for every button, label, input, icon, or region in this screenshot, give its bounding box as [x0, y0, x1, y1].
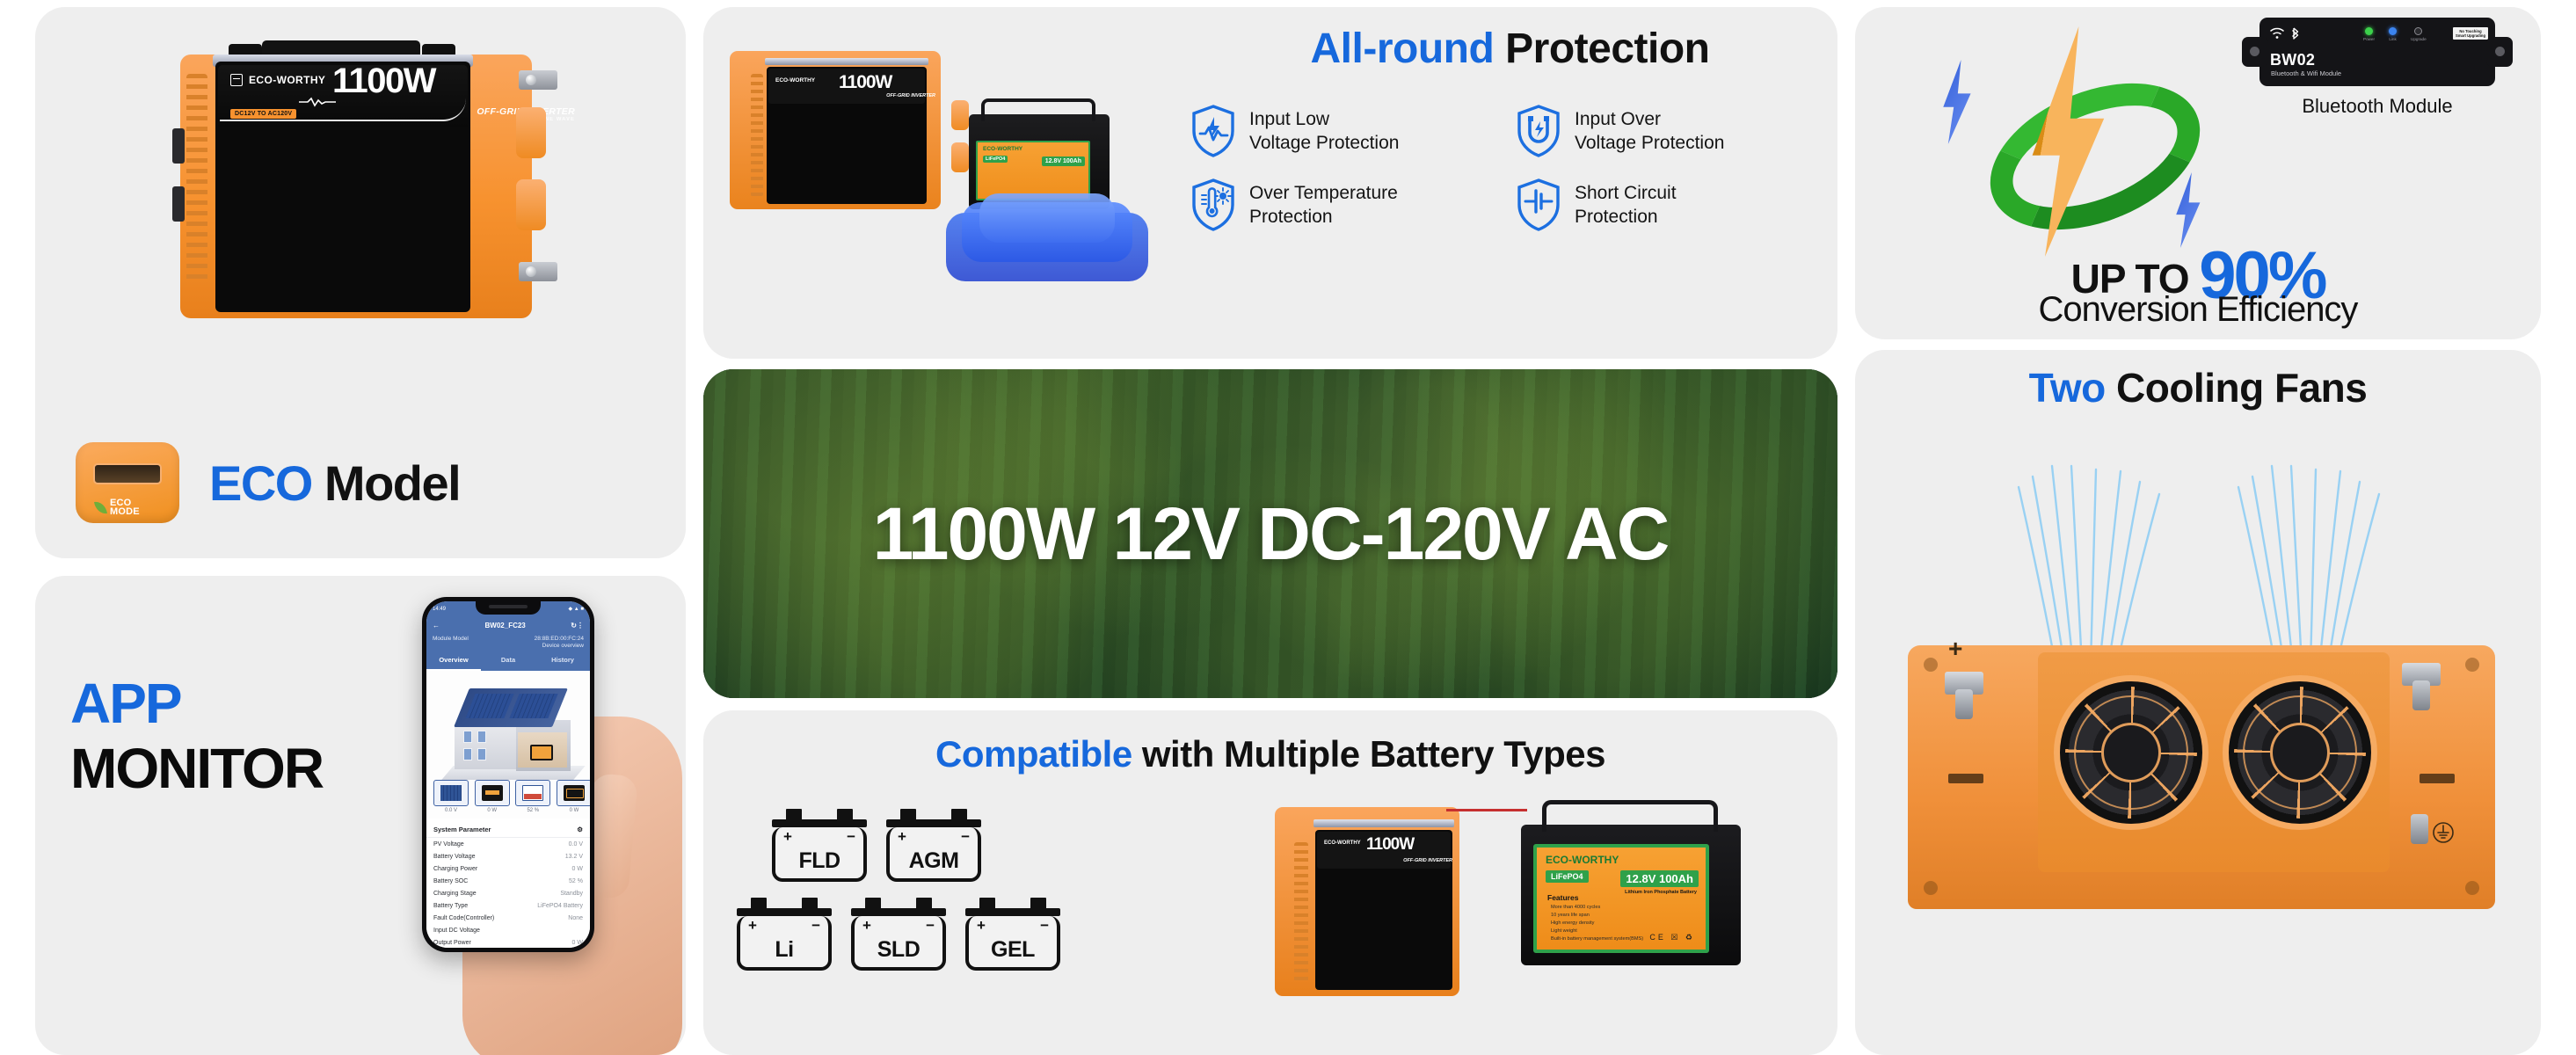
- module-model-label: Module Model: [433, 636, 469, 642]
- app-title-line1: APP: [70, 671, 323, 736]
- blue-bolt-small-icon-1: [1936, 60, 1976, 144]
- battery-minus-sign: −: [926, 920, 935, 932]
- fan-rings-left: [2074, 695, 2188, 810]
- battery-top-bar: [772, 819, 867, 827]
- led-upgrade: Upgrade: [2411, 27, 2427, 41]
- protection-item-short-circuit: Short CircuitProtection: [1515, 178, 1831, 232]
- battery-type-name: GEL: [969, 937, 1057, 963]
- eco-model-title: ECO Model: [209, 455, 460, 512]
- battery-plus-sign: +: [748, 920, 757, 932]
- hand-holding-phone: 14:49 ◆ ▲ ■ ← BW02_FC23 ↻ ⋮ Module Model…: [378, 585, 686, 1055]
- shield-temperature-icon: [1190, 178, 1237, 232]
- param-row-pv-voltage: PV Voltage 0.0 V: [426, 838, 590, 850]
- protection-title-highlight: All-round: [1311, 25, 1495, 72]
- panel-eco-model: ECO-WORTHY 1100W DC12V TO AC120V OFF-GRI…: [35, 7, 686, 558]
- status-time: 14:49: [433, 607, 446, 612]
- battery-body: + − GEL: [965, 916, 1060, 971]
- battery-type-row-1: + − FLD + − AGM: [737, 809, 1282, 882]
- status-signal-icons: ◆ ▲ ■: [568, 606, 584, 612]
- photo2-inverter-watts: 1100W: [1366, 835, 1414, 855]
- led-power: Power: [2363, 27, 2375, 41]
- photo-inverter-strip: [765, 58, 928, 65]
- battery-body: + − Li: [737, 916, 832, 971]
- protection-title: All-round Protection: [1182, 25, 1837, 73]
- battery-title-highlight: Compatible: [935, 733, 1132, 775]
- house-inverter-icon: [530, 745, 553, 760]
- param-value: Standby: [560, 891, 583, 897]
- battery-type-name: AGM: [890, 848, 978, 874]
- inverter-product-image: ECO-WORTHY 1100W DC12V TO AC120V OFF-GRI…: [132, 23, 589, 348]
- inverter-vents: [186, 74, 207, 283]
- protection-item-over-voltage: Input OverVoltage Protection: [1515, 104, 1831, 158]
- battery-type-gel: + − GEL: [965, 898, 1060, 971]
- param-label: Fault Code(Controller): [433, 915, 494, 921]
- device-status-row: 0.0 V 0 W 52 %: [433, 780, 590, 813]
- phone-screen: 14:49 ◆ ▲ ■ ← BW02_FC23 ↻ ⋮ Module Model…: [426, 601, 590, 948]
- positive-terminal: +: [1936, 665, 1992, 731]
- hero-spec-text: 1100W 12V DC-120V AC: [703, 369, 1837, 698]
- phone-speaker: [489, 605, 528, 608]
- param-label: Charging Stage: [433, 891, 477, 897]
- param-row-output-power: Output Power 0 W: [426, 936, 590, 948]
- cooling-fans-photo: +: [1897, 464, 2504, 939]
- battery-body: + − AGM: [886, 827, 981, 882]
- vent-slot-left: [1948, 774, 1983, 783]
- led-dot-blue: [2389, 27, 2397, 35]
- photo-battery-handle: [981, 98, 1095, 121]
- panel-battery-compatibility: Compatible with Multiple Battery Types +…: [703, 710, 1837, 1055]
- panel-cooling-fans: Two Cooling Fans: [1855, 350, 2541, 1055]
- inverter-terminal-bottom: [519, 262, 557, 281]
- param-label: Battery SOC: [433, 878, 468, 884]
- battery-type-sld: + − SLD: [851, 898, 946, 971]
- terminal-bolt: [1955, 689, 1973, 719]
- window-3: [477, 731, 486, 743]
- mount-hole-left: [2250, 47, 2259, 56]
- airflow-left-icon: [1968, 464, 2196, 666]
- param-row-charging-stage: Charging Stage Standby: [426, 887, 590, 899]
- wifi-icon: [2270, 27, 2284, 40]
- phone-notch: [476, 601, 541, 615]
- app-title-line2: MONITOR: [70, 736, 323, 801]
- photo-inverter-watts: 1100W: [839, 72, 891, 93]
- eco-model-title-rest: Model: [312, 455, 460, 511]
- param-value: LiFePO4 Battery: [537, 903, 583, 909]
- vent-slot-right: [2420, 774, 2455, 783]
- protection-item-label: Over TemperatureProtection: [1249, 181, 1398, 229]
- window-2: [463, 748, 472, 760]
- tab-overview[interactable]: Overview: [426, 651, 481, 671]
- battery-value: 52 %: [515, 808, 550, 813]
- battery-top-bar: [886, 819, 981, 827]
- param-value: 0 W: [572, 866, 583, 872]
- device-cell-solar[interactable]: 0.0 V: [433, 780, 469, 813]
- negative-terminal: [2393, 656, 2449, 723]
- module-model-name: BW02: [2270, 51, 2315, 69]
- module-model-value: 28:8B:ED:00:FC:24: [535, 636, 584, 642]
- bluetooth-module-caption: Bluetooth Module: [2259, 95, 2495, 118]
- cooling-fan-right: [2223, 675, 2377, 830]
- inverter-tab-1: [172, 128, 185, 164]
- param-label: Input DC Voltage: [433, 928, 480, 934]
- photo2-battery-brand: ECO-WORTHY: [1546, 854, 1619, 866]
- protection-title-rest: Protection: [1494, 25, 1709, 72]
- photo-battery-brand: ECO-WORTHY: [983, 146, 1022, 152]
- photo2-battery-label: ECO-WORTHY LiFePO4 12.8V 100Ah Lithium I…: [1533, 844, 1709, 953]
- battery-type-fld: + − FLD: [772, 809, 867, 882]
- battery-minus-sign: −: [961, 831, 970, 843]
- house-wall-left: [455, 724, 516, 769]
- system-diagram: 0.0 V 0 W 52 %: [426, 671, 590, 819]
- battery-type-li: + − Li: [737, 898, 832, 971]
- battery-minus-sign: −: [1040, 920, 1049, 932]
- param-label: Battery Type: [433, 903, 468, 909]
- battery-plus-sign: +: [862, 920, 871, 932]
- battery-type-row-2: + − Li + − SLD: [737, 898, 1282, 971]
- battery-type-name: Li: [740, 937, 828, 963]
- protection-content: All-round Protection Input LowVoltage Pr…: [1182, 7, 1837, 359]
- led-dot-green: [2365, 27, 2373, 35]
- battery-body: + − FLD: [772, 827, 867, 882]
- photo2-battery-chem: LiFePO4: [1546, 870, 1589, 883]
- panel-conversion-efficiency: Power Link Upgrade No Touching Smart Upg…: [1855, 7, 2541, 339]
- photo2-features-title: Features: [1547, 893, 1578, 902]
- system-parameter-title: System Parameter: [433, 826, 491, 833]
- photo2-inverter: ECO-WORTHY 1100W OFF-GRID INVERTER: [1275, 807, 1459, 996]
- module-sticker: No Touching Smart Upgrading: [2453, 27, 2488, 40]
- param-value: 13.2 V: [565, 854, 583, 860]
- shield-low-voltage-icon: [1190, 104, 1237, 158]
- back-arrow-icon[interactable]: ←: [433, 622, 440, 629]
- led-label: Power: [2363, 37, 2375, 41]
- device-overview-link[interactable]: Device overview: [426, 643, 590, 651]
- module-model-subtitle: Bluetooth & Wifi Module: [2271, 69, 2341, 77]
- battery-top-bar: [965, 908, 1060, 916]
- battery-icon: [515, 780, 550, 806]
- param-row-input-dc-voltage: Input DC Voltage: [426, 924, 590, 936]
- gear-icon[interactable]: ⚙: [577, 826, 583, 833]
- inverter-outlet-2: [516, 179, 546, 230]
- protection-item-low-voltage: Input LowVoltage Protection: [1190, 104, 1506, 158]
- bw02-module-device: Power Link Upgrade No Touching Smart Upg…: [2259, 18, 2495, 86]
- param-label: Charging Power: [433, 866, 477, 872]
- solar-panel-icon: [433, 780, 469, 806]
- protection-item-label: Input OverVoltage Protection: [1575, 107, 1724, 155]
- battery-minus-sign: −: [847, 831, 855, 843]
- system-parameter-header: System Parameter ⚙: [426, 822, 590, 838]
- param-row-fault-code: Fault Code(Controller) None: [426, 912, 590, 924]
- photo2-cable: [1446, 809, 1527, 811]
- photo-inverter-brand: ECO-WORTHY: [775, 77, 815, 84]
- eco-badge-slot: [93, 463, 162, 484]
- protection-feature-grid: Input LowVoltage Protection Input OverVo…: [1190, 104, 1831, 232]
- param-row-battery-soc: Battery SOC 52 %: [426, 875, 590, 887]
- battery-minus-sign: −: [811, 920, 820, 932]
- param-label: PV Voltage: [433, 841, 464, 848]
- fan-title-highlight: Two: [2029, 365, 2106, 411]
- protection-item-over-temperature: Over TemperatureProtection: [1190, 178, 1506, 232]
- eco-mode-marker: ECOMODE: [95, 498, 140, 516]
- eco-model-caption-row: ECOMODE ECO Model: [76, 442, 460, 523]
- battery-top-bar: [851, 908, 946, 916]
- cooling-fan-left: [2054, 675, 2209, 830]
- photo-battery-chem: LiFePO4: [983, 156, 1008, 163]
- inverter-tab-2: [172, 186, 185, 222]
- photo-battery-spec: 12.8V 100Ah: [1042, 156, 1085, 166]
- photo-inverter-outlet-2: [951, 142, 969, 172]
- protection-product-photo: ECO-WORTHY 1100W OFF-GRID INVERTER ECO-W…: [712, 16, 1178, 352]
- battery-type-agm: + − AGM: [886, 809, 981, 882]
- shield-over-voltage-icon: [1515, 104, 1562, 158]
- window-4: [477, 748, 486, 760]
- param-label: Battery Voltage: [433, 854, 475, 860]
- inverter-icon: [475, 780, 510, 806]
- house-illustration: [442, 685, 583, 780]
- mount-hole-right: [2495, 47, 2505, 56]
- plus-sign-label: +: [1948, 635, 1962, 663]
- photo-inverter: ECO-WORTHY 1100W OFF-GRID INVERTER: [730, 51, 941, 209]
- ground-terminal-icon: [2397, 809, 2453, 876]
- battery-top-bar: [737, 908, 832, 916]
- terminal-bolt: [2412, 680, 2430, 710]
- photo2-battery-spec-sub: Lithium Iron Phosphate Battery: [1625, 890, 1697, 895]
- param-label: Output Power: [433, 940, 471, 946]
- eco-mode-text: ECOMODE: [110, 498, 140, 516]
- inverter-outlet-1: [516, 107, 546, 158]
- more-vertical-icon[interactable]: ⋮: [577, 622, 584, 629]
- photo2-battery: ECO-WORTHY LiFePO4 12.8V 100Ah Lithium I…: [1521, 825, 1741, 965]
- ground-bolt: [2411, 814, 2428, 844]
- photo-inverter-type: OFF-GRID INVERTER: [886, 93, 935, 98]
- device-cell-inverter[interactable]: 0 W: [475, 780, 510, 813]
- app-title-text: BW02_FC23: [440, 622, 571, 629]
- screw-hole-2: [1924, 881, 1938, 895]
- airflow-right-icon: [2187, 464, 2416, 666]
- cooling-fans-title: Two Cooling Fans: [1855, 364, 2541, 411]
- photo-glow-pad: [946, 188, 1148, 283]
- earth-ground-icon: [2432, 821, 2455, 844]
- eco-worthy-logo-icon: [230, 74, 243, 86]
- energy-bolt-illustration: [1881, 14, 2268, 260]
- inverter-brand-text: ECO-WORTHY: [249, 74, 325, 86]
- param-value: None: [568, 915, 583, 921]
- infographic-canvas: ECO-WORTHY 1100W DC12V TO AC120V OFF-GRI…: [0, 0, 2576, 1055]
- inverter-dc-badge: DC12V TO AC120V: [230, 109, 296, 119]
- app-monitor-title: APP MONITOR: [70, 671, 323, 801]
- shield-short-circuit-icon: [1515, 178, 1562, 232]
- fan-title-rest: Cooling Fans: [2106, 365, 2368, 411]
- photo2-features-list: More than 4000 cycles 10 years life span…: [1551, 904, 1643, 943]
- module-icon-row: [2270, 26, 2300, 40]
- refresh-icon[interactable]: ↻: [571, 622, 577, 629]
- led-link: Link: [2389, 27, 2397, 41]
- panel-hero-banner: 1100W 12V DC-120V AC: [703, 369, 1837, 698]
- screw-hole-4: [2465, 881, 2479, 895]
- device-cell-load[interactable]: 0 W: [557, 780, 590, 813]
- photo2-inverter-strip: [1313, 819, 1454, 827]
- photo-inverter-vents: [751, 74, 763, 197]
- battery-plus-sign: +: [783, 831, 792, 843]
- battery-panel-photo: ECO-WORTHY 1100W OFF-GRID INVERTER ECO-W…: [1266, 772, 1820, 1044]
- screw-hole-3: [2465, 658, 2479, 672]
- battery-plus-sign: +: [977, 920, 986, 932]
- battery-title-rest: with Multiple Battery Types: [1132, 733, 1605, 775]
- smartphone: 14:49 ◆ ▲ ■ ← BW02_FC23 ↻ ⋮ Module Model…: [422, 597, 594, 952]
- leaf-icon: [94, 500, 107, 515]
- param-row-charging-power: Charging Power 0 W: [426, 862, 590, 875]
- tab-data[interactable]: Data: [481, 651, 535, 671]
- app-toolbar: ← BW02_FC23 ↻ ⋮: [426, 616, 590, 634]
- protection-item-label: Short CircuitProtection: [1575, 181, 1677, 229]
- led-label: Link: [2389, 37, 2397, 41]
- efficiency-subline: Conversion Efficiency: [1855, 290, 2541, 330]
- inverter-watts-text: 1100W: [332, 62, 435, 101]
- solar-value: 0.0 V: [433, 808, 469, 813]
- photo-inverter-outlet-1: [951, 100, 969, 130]
- photo2-inverter-brand: ECO-WORTHY: [1324, 840, 1361, 846]
- protection-item-label: Input LowVoltage Protection: [1249, 107, 1399, 155]
- param-row-battery-type: Battery Type LiFePO4 Battery: [426, 899, 590, 912]
- bluetooth-module-block: Power Link Upgrade No Touching Smart Upg…: [2259, 18, 2495, 118]
- led-label: Upgrade: [2411, 37, 2427, 41]
- battery-type-grid: + − FLD + − AGM: [737, 809, 1282, 986]
- eco-mode-badge: ECOMODE: [76, 442, 179, 523]
- battery-type-name: FLD: [775, 848, 863, 874]
- window-1: [463, 731, 472, 743]
- inverter-terminal-top: [519, 70, 557, 90]
- fan-mount-plate: [2038, 652, 2390, 872]
- inverter-value: 0 W: [475, 808, 510, 813]
- param-value: 0.0 V: [569, 841, 583, 848]
- module-model-row: Module Model 28:8B:ED:00:FC:24: [426, 634, 590, 643]
- photo2-battery-handle: [1542, 800, 1718, 832]
- device-cell-battery[interactable]: 52 %: [515, 780, 550, 813]
- panel-app-monitor: APP MONITOR 14:49 ◆ ▲ ■ ← BW02_FC23: [35, 576, 686, 1055]
- load-icon: [557, 780, 590, 806]
- photo2-inverter-type: OFF-GRID INVERTER: [1403, 858, 1452, 863]
- fan-rings-right: [2243, 695, 2357, 810]
- eco-model-title-highlight: ECO: [209, 455, 312, 511]
- tab-history[interactable]: History: [535, 651, 590, 671]
- bluetooth-icon: [2291, 26, 2300, 40]
- module-led-row: Power Link Upgrade: [2363, 27, 2427, 41]
- led-dot-dark: [2414, 27, 2422, 35]
- photo2-battery-spec: 12.8V 100Ah: [1620, 870, 1699, 887]
- photo2-inverter-vents: [1294, 842, 1308, 983]
- param-value: 52 %: [569, 878, 583, 884]
- param-value: 0 W: [572, 940, 583, 946]
- battery-plus-sign: +: [898, 831, 906, 843]
- photo2-cert-marks: CE ☒ ♻: [1649, 933, 1695, 942]
- battery-type-name: SLD: [855, 937, 942, 963]
- app-tabs: Overview Data History: [426, 651, 590, 671]
- load-value: 0 W: [557, 808, 590, 813]
- battery-compat-title: Compatible with Multiple Battery Types: [703, 733, 1837, 775]
- system-parameter-section: System Parameter ⚙ PV Voltage 0.0 V Batt…: [426, 819, 590, 948]
- panel-all-round-protection: ECO-WORTHY 1100W OFF-GRID INVERTER ECO-W…: [703, 7, 1837, 359]
- param-row-battery-voltage: Battery Voltage 13.2 V: [426, 850, 590, 862]
- inverter-brand-row: ECO-WORTHY: [230, 74, 325, 86]
- battery-body: + − SLD: [851, 916, 946, 971]
